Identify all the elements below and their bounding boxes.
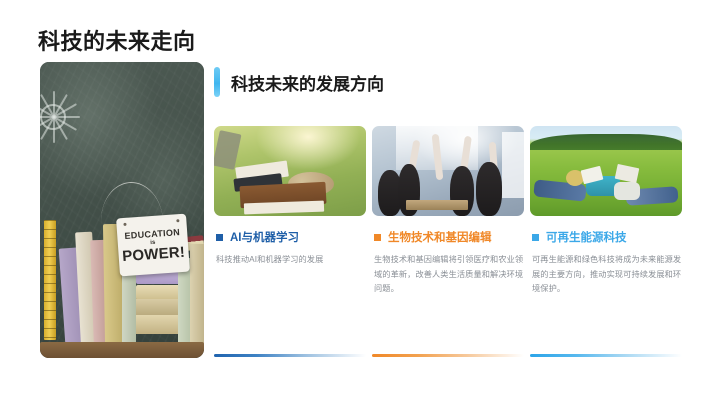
hero-image: EDUCATION is POWER! xyxy=(40,62,204,358)
column-body-renewable: 可再生能源和绿色科技将成为未来能源发展的主要方向，推动实现可持续发展和环境保护。 xyxy=(530,253,682,297)
content-area: 科技未来的发展方向 AI与机器学习 科技推动AI和机器学习的发展 xyxy=(214,66,692,297)
column-body-ai: 科技推动AI和机器学习的发展 xyxy=(214,253,366,268)
sign-line-2: is xyxy=(150,239,155,245)
column-title-biotech: 生物技术和基因编辑 xyxy=(388,229,492,245)
column-title-renewable: 可再生能源科技 xyxy=(546,229,627,245)
section-heading: 科技未来的发展方向 xyxy=(214,66,692,98)
section-title: 科技未来的发展方向 xyxy=(231,70,384,95)
column-image-renewable xyxy=(530,126,682,216)
square-bullet-icon xyxy=(532,234,539,241)
column-renewable: 可再生能源科技 可再生能源和绿色科技将成为未来能源发展的主要方向，推动实现可持续… xyxy=(530,126,682,297)
column-heading-renewable: 可再生能源科技 xyxy=(530,229,682,245)
lightbulb-icon xyxy=(40,88,88,150)
square-bullet-icon xyxy=(374,234,381,241)
column-image-biotech xyxy=(372,126,524,216)
column-title-ai: AI与机器学习 xyxy=(230,229,299,245)
footer-rule-blue xyxy=(214,354,366,357)
column-heading-ai: AI与机器学习 xyxy=(214,229,366,245)
accent-bar xyxy=(214,67,220,97)
page-title: 科技的未来走向 xyxy=(38,24,196,56)
education-sign: EDUCATION is POWER! xyxy=(116,214,190,277)
footer-rules xyxy=(214,354,692,357)
column-body-biotech: 生物技术和基因编辑将引领医疗和农业领域的革新，改善人类生活质量和解决环境问题。 xyxy=(372,253,524,297)
footer-rule-cyan xyxy=(530,354,682,357)
column-biotech: 生物技术和基因编辑 生物技术和基因编辑将引领医疗和农业领域的革新，改善人类生活质… xyxy=(372,126,524,297)
column-heading-biotech: 生物技术和基因编辑 xyxy=(372,229,524,245)
sign-line-3: POWER! xyxy=(122,244,186,263)
sign-line-1: EDUCATION xyxy=(124,227,180,241)
footer-rule-orange xyxy=(372,354,524,357)
column-ai: AI与机器学习 科技推动AI和机器学习的发展 xyxy=(214,126,366,297)
columns-container: AI与机器学习 科技推动AI和机器学习的发展 生物技术和基因编辑 xyxy=(214,126,692,297)
column-image-ai xyxy=(214,126,366,216)
square-bullet-icon xyxy=(216,234,223,241)
